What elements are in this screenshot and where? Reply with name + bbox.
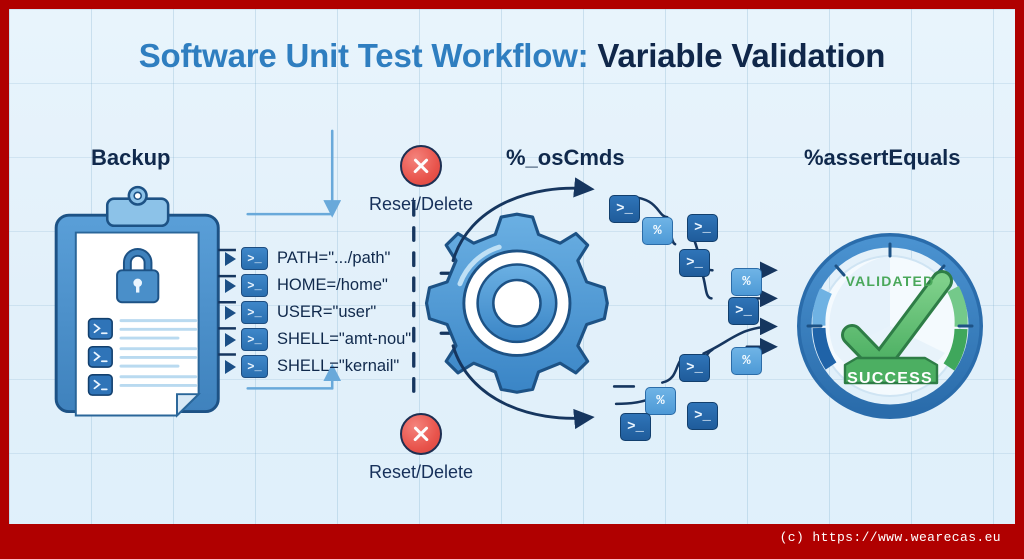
- title-part-secondary: Variable Validation: [597, 37, 885, 74]
- terminal-icon: >_: [241, 247, 268, 270]
- infographic-frame: Software Unit Test Workflow: Variable Va…: [0, 0, 1024, 559]
- terminal-icon: >_: [241, 274, 268, 297]
- reset-delete-top[interactable]: Reset/Delete: [331, 145, 511, 215]
- gauge-check-icon: VALIDATED SUCCESS: [795, 231, 985, 421]
- variable-label: USER="user": [277, 303, 376, 322]
- variable-list: >_ PATH=".../path" >_ HOME=/home" >_ USE…: [225, 245, 411, 380]
- terminal-icon: >_: [241, 328, 268, 351]
- gauge-validated-label: VALIDATED: [795, 273, 985, 289]
- network-node-terminal[interactable]: >_: [687, 402, 718, 430]
- network-node-percent[interactable]: %: [645, 387, 676, 415]
- x-circle-icon[interactable]: [400, 413, 442, 455]
- column-header-assertequals: %assertEquals: [804, 145, 961, 171]
- column-header-oscmds: %_osCmds: [506, 145, 625, 171]
- arrow-right-icon: [225, 333, 236, 347]
- column-header-backup: Backup: [91, 145, 170, 171]
- list-item[interactable]: >_ PATH=".../path": [225, 245, 411, 272]
- variable-label: PATH=".../path": [277, 249, 390, 268]
- variable-label: SHELL="amt-nou": [277, 330, 411, 349]
- x-circle-icon[interactable]: [400, 145, 442, 187]
- list-item[interactable]: >_ HOME=/home": [225, 272, 411, 299]
- gear-icon: [427, 214, 608, 392]
- watermark-bar: (c) https://www.wearecas.eu: [9, 524, 1015, 550]
- arrow-right-icon: [225, 306, 236, 320]
- arrow-right-icon: [225, 279, 236, 293]
- network-node-terminal[interactable]: >_: [728, 297, 759, 325]
- network-node-terminal[interactable]: >_: [679, 249, 710, 277]
- list-item[interactable]: >_ SHELL="amt-nou": [225, 326, 411, 353]
- clipboard-lock-icon: [56, 187, 218, 415]
- network-node-terminal[interactable]: >_: [620, 413, 651, 441]
- network-node-terminal[interactable]: >_: [679, 354, 710, 382]
- arrow-right-icon: [225, 360, 236, 374]
- terminal-icon: >_: [241, 355, 268, 378]
- network-node-percent[interactable]: %: [731, 268, 762, 296]
- list-item[interactable]: >_ SHELL="kernail": [225, 353, 411, 380]
- title-part-primary: Software Unit Test Workflow:: [139, 37, 589, 74]
- variable-label: SHELL="kernail": [277, 357, 399, 376]
- page-title: Software Unit Test Workflow: Variable Va…: [9, 37, 1015, 75]
- network-node-percent[interactable]: %: [642, 217, 673, 245]
- watermark-text: (c) https://www.wearecas.eu: [780, 530, 1015, 545]
- reset-delete-bottom-label: Reset/Delete: [331, 462, 511, 483]
- network-node-percent[interactable]: %: [731, 347, 762, 375]
- network-node-terminal[interactable]: >_: [609, 195, 640, 223]
- network-node-terminal[interactable]: >_: [687, 214, 718, 242]
- gauge-success-label: SUCCESS: [795, 370, 985, 388]
- terminal-icon: >_: [241, 301, 268, 324]
- variable-label: HOME=/home": [277, 276, 388, 295]
- list-item[interactable]: >_ USER="user": [225, 299, 411, 326]
- arrow-right-icon: [225, 252, 236, 266]
- reset-delete-bottom[interactable]: Reset/Delete: [331, 413, 511, 483]
- reset-delete-top-label: Reset/Delete: [331, 194, 511, 215]
